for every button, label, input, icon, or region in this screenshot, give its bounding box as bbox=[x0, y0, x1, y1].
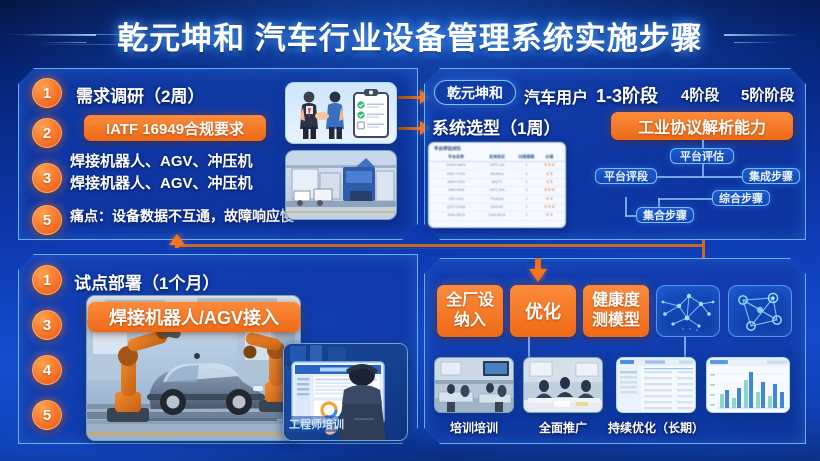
handshake-checklist-svg bbox=[286, 83, 397, 144]
cell: Profinet bbox=[479, 197, 515, 202]
node-cluster-svg bbox=[731, 288, 789, 334]
cell: 1 bbox=[515, 213, 538, 218]
connector-down-right bbox=[702, 240, 705, 258]
cell: OPC-UA bbox=[479, 163, 515, 168]
table-row: JMS-08C5 CAN-BUS 1 ￥￥ bbox=[429, 212, 565, 220]
step-badge-2[interactable]: 2 bbox=[32, 118, 62, 148]
flow-node-comprehensive-step[interactable]: 综合步骤 bbox=[712, 190, 770, 206]
flow-node-integration-step[interactable]: 集成步骤 bbox=[742, 168, 800, 184]
network-graph-icon[interactable] bbox=[656, 285, 720, 337]
tag-phase-1-3: 1-3阶段 bbox=[596, 82, 658, 108]
cell: QDT-CN08 bbox=[433, 205, 479, 210]
cell: 1 bbox=[515, 197, 538, 202]
cell: 2 bbox=[515, 205, 538, 210]
arrow-up-to-pilot bbox=[169, 234, 185, 248]
cell: ￥￥ bbox=[538, 180, 561, 185]
chip-line-1: 健康度 bbox=[592, 291, 640, 311]
flow-node-platform-stage[interactable]: 平台评段 bbox=[595, 168, 657, 184]
cell: ￥￥￥ bbox=[538, 188, 561, 193]
title-decor-right-2 bbox=[734, 42, 780, 43]
title-decor-left bbox=[22, 34, 96, 36]
arrow-down-to-optimize bbox=[528, 258, 548, 282]
pilot-badge-4[interactable]: 4 bbox=[32, 355, 62, 385]
step-badge-1[interactable]: 1 bbox=[32, 78, 62, 108]
platform-comparison-table: 平台评估对比 平台名称 支持协议 对接周期 价格 ZHKH-MES OPC-UA… bbox=[428, 142, 566, 228]
step-badge-5[interactable]: 5 bbox=[32, 205, 62, 235]
tag-phase-5: 5阶阶段 bbox=[741, 84, 794, 105]
tag-auto-user: 汽车用户 bbox=[524, 84, 588, 108]
flow-node-platform-eval[interactable]: 平台评估 bbox=[670, 148, 734, 164]
bar-chart-svg bbox=[707, 358, 790, 413]
table-row: JMH-M08 OPC-DA 3 ￥￥￥ bbox=[429, 187, 565, 195]
cell: 1 bbox=[515, 180, 538, 185]
chip-health-model[interactable]: 健康度 测模型 bbox=[583, 285, 649, 337]
handshake-checklist-illustration bbox=[285, 82, 397, 144]
pilot-badge-1[interactable]: 1 bbox=[32, 265, 62, 295]
tag-brand[interactable]: 乾元坤和 bbox=[434, 80, 516, 105]
table-row: SAN-7015 MQTT 1 ￥￥ bbox=[429, 179, 565, 187]
cell: JMS-08C5 bbox=[433, 213, 479, 218]
title-decor-left-2 bbox=[40, 42, 86, 43]
factory-production-line-photo bbox=[285, 150, 397, 220]
meeting-svg bbox=[524, 358, 603, 413]
cell: Modbus bbox=[479, 172, 515, 177]
caption-full-rollout: 全面推广 bbox=[523, 419, 603, 436]
cell: 2 bbox=[515, 172, 538, 177]
table-header-cell: 对接周期 bbox=[515, 154, 538, 160]
infographic-canvas: 乾元坤和 汽车行业设备管理系统实施步骤 1 2 3 5 需求调研（2周） IAT… bbox=[0, 0, 820, 461]
subtitle-system-selection: 系统选型（1周） bbox=[432, 114, 560, 139]
caption-training: 培训培训 bbox=[434, 419, 514, 436]
title-decor-right bbox=[724, 34, 798, 36]
flow-line-v-mid bbox=[702, 163, 704, 177]
dashboard-list-screenshot bbox=[616, 357, 696, 413]
chip-iatf-compliance[interactable]: IATF 16949合规要求 bbox=[84, 115, 266, 141]
chip-robot-agv-access[interactable]: 焊接机器人/AGV接入 bbox=[88, 302, 300, 332]
cell: ￥￥ bbox=[538, 197, 561, 202]
network-graph-svg bbox=[659, 288, 717, 334]
cell: ￥￥ bbox=[538, 213, 561, 218]
cell: CAN-BUS bbox=[479, 213, 515, 218]
meeting-room-photo bbox=[523, 357, 603, 413]
bar-chart-screenshot bbox=[706, 357, 790, 413]
flow-line-v-left2 bbox=[625, 197, 627, 216]
table-header-cell: 价格 bbox=[538, 154, 561, 160]
pilot-badge-3[interactable]: 3 bbox=[32, 310, 62, 340]
cell: ASD-Y10X bbox=[433, 172, 479, 177]
table-header-row: 平台名称 支持协议 对接周期 价格 bbox=[429, 153, 565, 162]
chip-protocol-capability[interactable]: 工业协议解析能力 bbox=[611, 112, 793, 140]
cell: OPC-DA bbox=[479, 188, 515, 193]
connector-icon-to-card bbox=[684, 337, 686, 359]
connector-horizontal-bridge bbox=[176, 244, 704, 247]
table-row: ZHKH-MES OPC-UA 1 ￥￥￥ bbox=[429, 162, 565, 170]
tag-phase-4: 4阶段 bbox=[681, 84, 719, 105]
chip-line-2: 纳入 bbox=[454, 311, 486, 331]
step-badge-3[interactable]: 3 bbox=[32, 163, 62, 193]
row-equipment-list-2: 焊接机器人、AGV、冲压机 bbox=[70, 172, 253, 193]
dashboard-list-svg bbox=[617, 358, 696, 413]
connector-optimize-to-card bbox=[528, 337, 530, 359]
page-title: 乾元坤和 汽车行业设备管理系统实施步骤 bbox=[0, 8, 820, 62]
svg-text:工程师培训: 工程师培训 bbox=[289, 417, 344, 431]
flow-line-h-mid2 bbox=[658, 198, 718, 200]
factory-photo-svg bbox=[286, 151, 397, 220]
classroom-training-photo bbox=[434, 357, 514, 413]
table-title: 平台评估对比 bbox=[429, 143, 565, 153]
table-row: JSX-U02 Profinet 1 ￥￥ bbox=[429, 196, 565, 204]
pilot-badge-5[interactable]: 5 bbox=[32, 400, 62, 430]
row-equipment-list-1: 焊接机器人、AGV、冲压机 bbox=[70, 150, 253, 171]
row-pilot-deployment: 试点部署（1个月） bbox=[74, 269, 219, 294]
engineer-training-tablet-photo: 工程师培训 bbox=[283, 343, 408, 441]
chip-optimize[interactable]: 优化 bbox=[510, 285, 576, 337]
cell: EthCAT bbox=[479, 205, 515, 210]
node-cluster-icon[interactable] bbox=[728, 285, 792, 337]
page-title-text: 乾元坤和 汽车行业设备管理系统实施步骤 bbox=[117, 13, 703, 58]
cell: SAN-7015 bbox=[433, 180, 479, 185]
table-header-cell: 平台名称 bbox=[433, 154, 479, 160]
engineer-training-svg: 工程师培训 bbox=[284, 344, 408, 441]
cell: ￥￥ bbox=[538, 172, 561, 177]
cell: MQTT bbox=[479, 180, 515, 185]
row-requirement-survey: 需求调研（2周） bbox=[76, 82, 204, 107]
table-header-cell: 支持协议 bbox=[479, 154, 515, 160]
cell: 1 bbox=[515, 163, 538, 168]
cell: JSX-U02 bbox=[433, 197, 479, 202]
cell: JMH-M08 bbox=[433, 188, 479, 193]
table-row: ASD-Y10X Modbus 2 ￥￥ bbox=[429, 170, 565, 178]
caption-continuous-optimization: 持续优化（长期） bbox=[606, 419, 706, 436]
flow-node-assembly-step[interactable]: 集合步骤 bbox=[636, 207, 694, 223]
cell: 3 bbox=[515, 188, 538, 193]
table-row: QDT-CN08 EthCAT 2 ￥￥￥ bbox=[429, 204, 565, 212]
row-painpoints: 痛点：设备数据不互通，故障响应慢 bbox=[70, 206, 294, 226]
cell: ZHKH-MES bbox=[433, 163, 479, 168]
cell: ￥￥￥ bbox=[538, 205, 561, 210]
cell: ￥￥￥ bbox=[538, 163, 561, 168]
classroom-svg bbox=[435, 358, 514, 413]
chip-line-2: 测模型 bbox=[592, 311, 640, 331]
chip-full-plant-inclusion[interactable]: 全厂设 纳入 bbox=[437, 285, 503, 337]
chip-line-1: 全厂设 bbox=[446, 291, 494, 311]
